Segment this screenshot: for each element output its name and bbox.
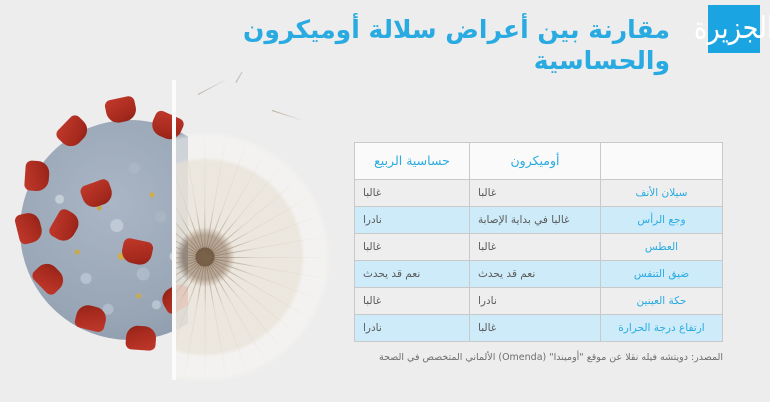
- comparison-table-wrapper: أوميكرون حساسية الربيع سيلان الأنف غالبا…: [355, 142, 723, 342]
- cell-symptom: حكة العينين: [601, 288, 723, 315]
- cell-omicron: غالبا في بداية الإصابة: [470, 207, 601, 234]
- split-illustration: [0, 62, 352, 402]
- cell-omicron: غالبا: [470, 315, 601, 342]
- dandelion-fluff: [204, 134, 205, 258]
- cell-allergy: نعم قد يحدث: [355, 261, 470, 288]
- header: مقارنة بين أعراض سلالة أوميكرون والحساسي…: [0, 0, 770, 68]
- table-row: وجع الرأس غالبا في بداية الإصابة نادرا: [355, 207, 723, 234]
- cell-allergy: غالبا: [355, 180, 470, 207]
- comparison-table: أوميكرون حساسية الربيع سيلان الأنف غالبا…: [354, 142, 723, 342]
- cell-omicron: نعم قد يحدث: [470, 261, 601, 288]
- table-row: ارتفاع درجة الحرارة غالبا نادرا: [355, 315, 723, 342]
- table-header-row: أوميكرون حساسية الربيع: [355, 143, 723, 180]
- column-header-allergy: حساسية الربيع: [355, 143, 470, 180]
- source-caption: المصدر: دويتشه فيله نقلا عن موقع "أوميند…: [323, 352, 723, 364]
- infographic-canvas: مقارنة بين أعراض سلالة أوميكرون والحساسي…: [0, 0, 770, 402]
- al-jazeera-logo-glyph: الجزيرة: [694, 14, 770, 44]
- dandelion-seed-head-icon: [176, 72, 352, 392]
- dandelion-fluff: [205, 257, 329, 258]
- dandelion-ball: [176, 132, 330, 382]
- cell-allergy: نادرا: [355, 315, 470, 342]
- dandelion-seed: [198, 78, 229, 95]
- table-row: العطس غالبا غالبا: [355, 234, 723, 261]
- column-header-symptom: [601, 143, 723, 180]
- virus-body: [20, 120, 188, 340]
- dandelion-fluff: [204, 258, 205, 382]
- table-body: سيلان الأنف غالبا غالبا وجع الرأس غالبا …: [355, 180, 723, 342]
- column-header-omicron: أوميكرون: [470, 143, 601, 180]
- cell-symptom: ارتفاع درجة الحرارة: [601, 315, 723, 342]
- cell-symptom: سيلان الأنف: [601, 180, 723, 207]
- cell-allergy: غالبا: [355, 288, 470, 315]
- cell-symptom: العطس: [601, 234, 723, 261]
- table-row: سيلان الأنف غالبا غالبا: [355, 180, 723, 207]
- virus-spike: [125, 325, 157, 351]
- table-row: حكة العينين نادرا غالبا: [355, 288, 723, 315]
- dandelion-seed: [272, 110, 305, 122]
- cell-omicron: نادرا: [470, 288, 601, 315]
- cell-symptom: ضيق التنفس: [601, 261, 723, 288]
- table-header: أوميكرون حساسية الربيع: [355, 143, 723, 180]
- image-split-divider: [172, 80, 176, 380]
- cell-omicron: غالبا: [470, 234, 601, 261]
- coronavirus-particle-icon: [10, 90, 188, 370]
- dandelion-seed: [235, 72, 253, 83]
- cell-allergy: غالبا: [355, 234, 470, 261]
- cell-allergy: نادرا: [355, 207, 470, 234]
- al-jazeera-logo: الجزيرة: [708, 5, 760, 53]
- cell-omicron: غالبا: [470, 180, 601, 207]
- cell-symptom: وجع الرأس: [601, 207, 723, 234]
- table-row: ضيق التنفس نعم قد يحدث نعم قد يحدث: [355, 261, 723, 288]
